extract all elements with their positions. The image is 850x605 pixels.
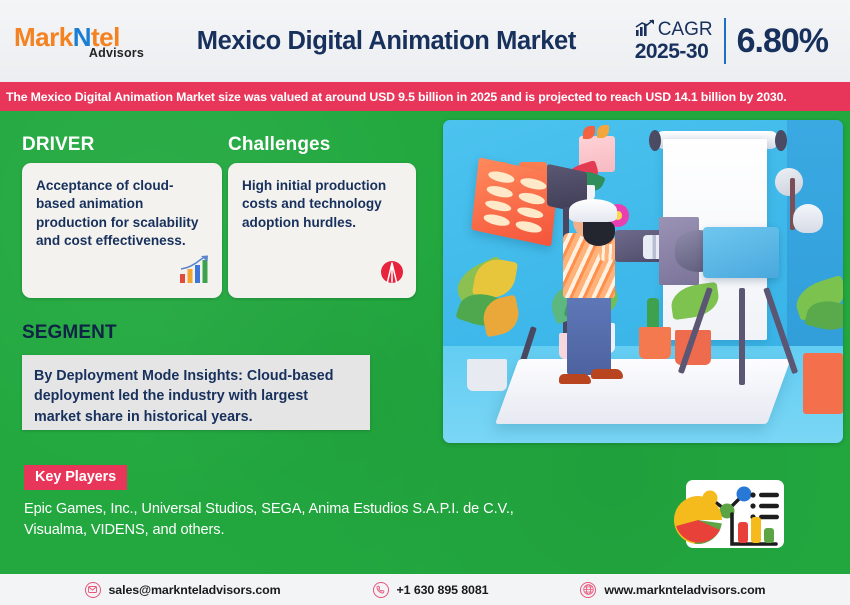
phone-icon (373, 582, 389, 598)
driver-text: Acceptance of cloud-based animation prod… (22, 163, 222, 251)
bar-chart-arrow-icon (635, 19, 655, 42)
challenges-text: High initial production costs and techno… (228, 163, 416, 232)
footer-email[interactable]: sales@marknteladvisors.com (85, 582, 281, 598)
header-bar: MarkNtel Advisors Mexico Digital Animati… (0, 0, 850, 82)
driver-card: Acceptance of cloud-based animation prod… (22, 163, 222, 298)
floor-plant-pot (467, 359, 507, 391)
person-shoe-left (559, 374, 591, 384)
wall-lamp-ball (775, 168, 803, 195)
person-legs (567, 294, 611, 375)
cagr-value: 6.80% (737, 22, 828, 61)
person-shoe-right (591, 369, 623, 379)
cagr-label-group: CAGR 2025-30 (635, 19, 713, 64)
cagr-label-row: CAGR (635, 19, 713, 42)
camera-tripod-leg (739, 288, 745, 385)
wall-lamp-shade (793, 204, 823, 233)
segment-heading: SEGMENT (22, 322, 117, 344)
infographic-page: MarkNtel Advisors Mexico Digital Animati… (0, 0, 850, 605)
segment-card: By Deployment Mode Insights: Cloud-based… (22, 355, 370, 430)
red-hurdle-icon (378, 259, 406, 290)
key-players-text: Epic Games, Inc., Universal Studios, SEG… (24, 499, 534, 540)
footer-bar: sales@marknteladvisors.com +1 630 895 80… (0, 574, 850, 605)
challenges-heading: Challenges (228, 134, 330, 156)
segment-text: By Deployment Mode Insights: Cloud-based… (22, 355, 370, 438)
globe-icon (580, 582, 596, 598)
envelope-icon (85, 582, 101, 598)
main-camera-body (703, 227, 779, 279)
backdrop-knob-right (775, 130, 787, 151)
analytics-dashboard-icon (672, 478, 790, 562)
driver-heading: DRIVER (22, 134, 94, 156)
footer-website[interactable]: www.marknteladvisors.com (580, 582, 765, 598)
market-size-banner: The Mexico Digital Animation Market size… (0, 82, 850, 111)
corner-plant-pot (803, 353, 843, 414)
person-cap (569, 199, 617, 222)
brand-logo[interactable]: MarkNtel Advisors (14, 22, 144, 60)
studio-softbox-light (471, 158, 559, 248)
backdrop-knob-left (649, 130, 661, 151)
cagr-divider (724, 18, 726, 64)
cagr-years: 2025-30 (635, 41, 713, 63)
footer-phone-text: +1 630 895 8081 (397, 583, 489, 597)
challenges-card: High initial production costs and techno… (228, 163, 416, 298)
footer-email-text: sales@marknteladvisors.com (109, 583, 281, 597)
cagr-block: CAGR 2025-30 6.80% (635, 18, 836, 64)
page-title: Mexico Digital Animation Market (144, 27, 635, 56)
cactus-plant (647, 298, 659, 330)
footer-phone[interactable]: +1 630 895 8081 (373, 582, 489, 598)
softbox-bulbs (483, 170, 546, 235)
hero-illustration (443, 120, 843, 443)
cactus-pot (639, 327, 671, 359)
footer-website-text: www.marknteladvisors.com (604, 583, 765, 597)
key-players-badge: Key Players (24, 465, 127, 490)
logo-text-mark: Mark (14, 22, 73, 52)
growth-bar-chart-icon (178, 255, 212, 290)
studio-platform (495, 359, 791, 424)
cagr-label-text: CAGR (658, 20, 713, 40)
